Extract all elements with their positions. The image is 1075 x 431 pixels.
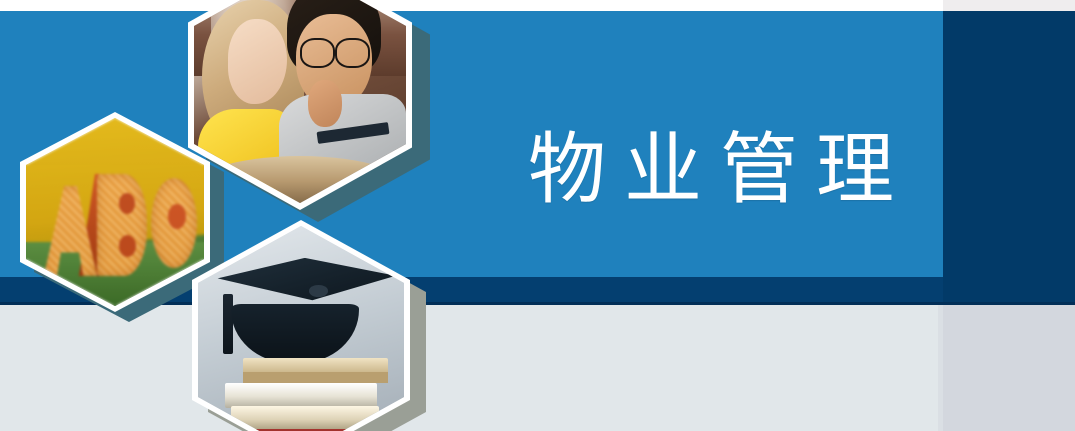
top-right-gray-strip <box>943 0 1075 11</box>
top-white-strip <box>0 0 943 11</box>
boy-eyeglasses <box>300 38 370 64</box>
cap-button <box>309 285 328 296</box>
boy-hand <box>308 80 342 127</box>
book-stack-item <box>243 372 387 383</box>
slide-canvas: 物业管理 <box>0 0 1075 431</box>
body-background-right <box>943 305 1075 431</box>
tassel <box>223 294 233 353</box>
book-stack-item <box>225 383 377 408</box>
body-background-left <box>0 305 943 431</box>
slide-title: 物业管理 <box>528 122 998 218</box>
